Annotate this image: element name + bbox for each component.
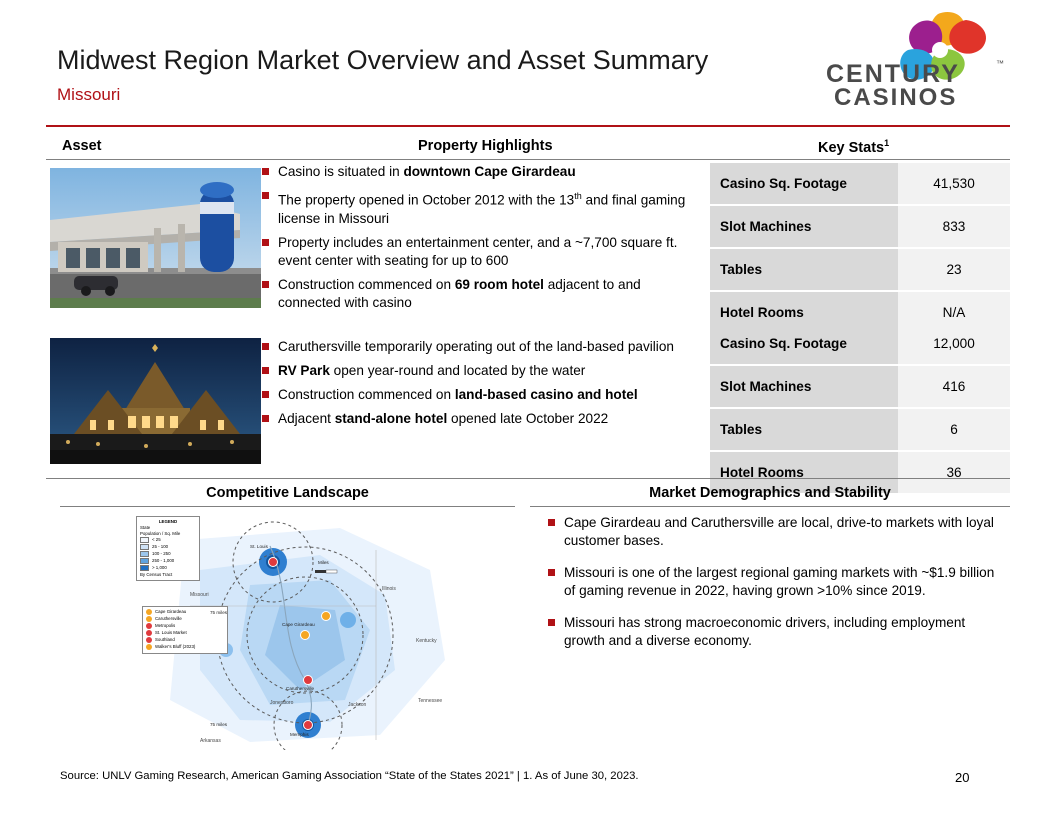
map-state-illinois: Illinois [382,586,396,592]
lower-section-divider [46,478,1010,479]
page-subtitle: Missouri [57,85,120,105]
bullet-item: Caruthersville temporarily operating out… [262,338,712,356]
key-stats-table-cape-girardeau: Casino Sq. Footage41,530 Slot Machines83… [710,163,1010,335]
map-state-kentucky: Kentucky [416,638,437,644]
table-row: Slot Machines833 [710,205,1010,248]
competitive-landscape-underline [60,506,515,507]
bullet-square-icon [262,192,269,199]
table-row: Tables6 [710,408,1010,451]
bullet-square-icon [262,343,269,350]
bullet-square-icon [262,367,269,374]
table-row: Casino Sq. Footage41,530 [710,163,1010,205]
map-label-caruthersville: Caruthersville [286,686,314,691]
bullet-item: Missouri has strong macroeconomic driver… [548,614,998,650]
competitive-landscape-map: LEGEND State Population / Sq. Mile < 25 … [130,510,473,750]
section-title-competitive-landscape: Competitive Landscape [60,485,515,501]
bullet-item: RV Park open year-round and located by t… [262,362,712,380]
map-state-missouri: Missouri [190,592,209,598]
svg-text:™: ™ [996,59,1004,68]
map-label-cape-girardeau: Cape Girardeau [282,622,315,627]
map-state-tennessee: Tennessee [418,698,442,704]
source-note: Source: UNLV Gaming Research, American G… [60,770,639,782]
section-title-market-demographics: Market Demographics and Stability [530,485,1010,501]
century-casinos-logo: CENTURY CASINOS ™ [818,8,1008,113]
bullet-square-icon [262,415,269,422]
bullet-square-icon [262,281,269,288]
bullet-item: The property opened in October 2012 with… [262,187,702,228]
bullet-square-icon [262,239,269,246]
key-stats-table-caruthersville: Casino Sq. Footage12,000 Slot Machines41… [710,323,1010,495]
highlights-list-caruthersville: Caruthersville temporarily operating out… [262,338,712,434]
map-label-jackson: Jackson [348,702,366,708]
map-radius-label-2: 75 miles [210,722,227,727]
column-header-highlights: Property Highlights [418,138,553,154]
bullet-square-icon [262,168,269,175]
map-scale-label: Miles [318,560,329,565]
bullet-item: Casino is situated in downtown Cape Gira… [262,163,702,181]
asset-photo-caruthersville [50,338,261,464]
highlights-list-cape-girardeau: Casino is situated in downtown Cape Gira… [262,163,702,318]
column-header-keystats: Key Stats1 [818,138,889,156]
page-number: 20 [955,770,969,785]
bullet-item: Cape Girardeau and Caruthersville are lo… [548,514,998,550]
bullet-item: Construction commenced on land-based cas… [262,386,712,404]
column-header-asset: Asset [62,138,102,154]
map-label-memphis: Memphis [290,732,309,737]
asset-photo-cape-girardeau [50,168,261,308]
market-demographics-list: Cape Girardeau and Caruthersville are lo… [548,514,998,664]
table-row: Slot Machines416 [710,365,1010,408]
bullet-square-icon [548,519,555,526]
map-label-jonesboro: Jonesboro [270,700,293,706]
logo-wordmark-casinos: CASINOS [834,84,957,111]
map-radius-label-1: 75 miles [210,610,227,615]
market-demographics-underline [530,506,1010,507]
table-row: Casino Sq. Footage12,000 [710,323,1010,365]
page-title: Midwest Region Market Overview and Asset… [57,45,708,76]
bullet-item: Missouri is one of the largest regional … [548,564,998,600]
map-label-st-louis: St. Louis [250,544,268,549]
column-header-divider [46,159,1010,160]
bullet-square-icon [548,619,555,626]
header-divider [46,125,1010,127]
table-row: Tables23 [710,248,1010,291]
map-legend-density: LEGEND State Population / Sq. Mile < 25 … [136,516,200,581]
bullet-square-icon [262,391,269,398]
map-state-arkansas: Arkansas [200,738,221,744]
bullet-square-icon [548,569,555,576]
slide: Midwest Region Market Overview and Asset… [0,0,1056,816]
bullet-item: Adjacent stand-alone hotel opened late O… [262,410,712,428]
bullet-item: Construction commenced on 69 room hotel … [262,276,702,312]
bullet-item: Property includes an entertainment cente… [262,234,702,270]
